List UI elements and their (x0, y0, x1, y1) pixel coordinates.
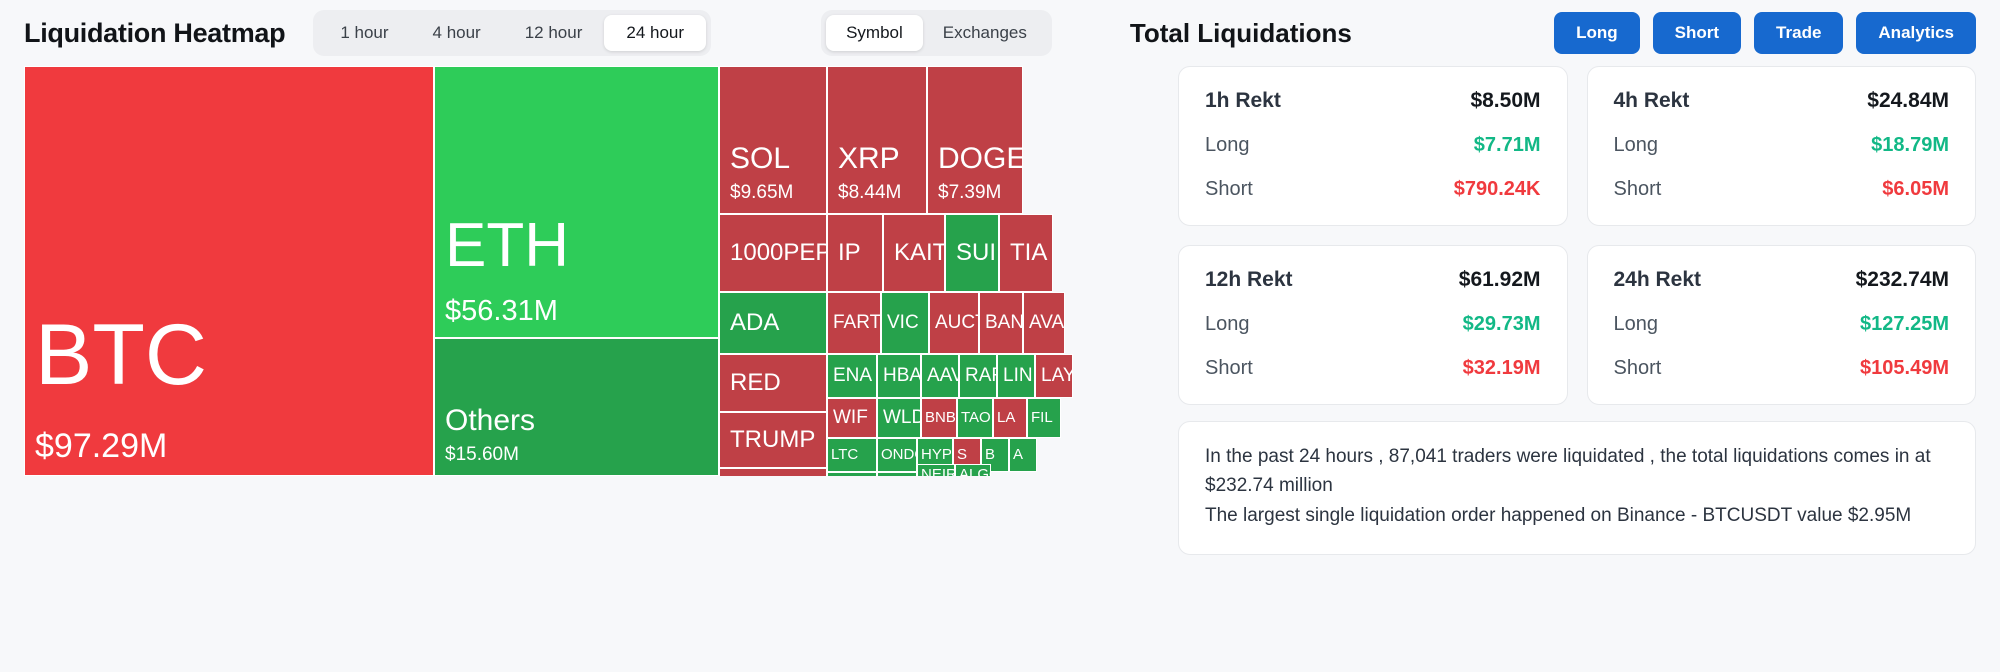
timeframe-segmented-control[interactable]: 1 hour4 hour12 hour24 hour (313, 10, 711, 56)
tile-symbol: Others (445, 405, 708, 437)
tile-symbol: KAITO (894, 240, 934, 265)
card-row: Long$29.73M (1205, 313, 1541, 336)
treemap-tile-banana[interactable]: BANANA (979, 292, 1023, 354)
treemap-tile-avax[interactable]: AVAX (1023, 292, 1065, 354)
treemap-tile-layer[interactable]: LAYER (1035, 354, 1073, 398)
treemap-tile-fartcoin[interactable]: FARTCOIN (827, 292, 881, 354)
action-btn-short[interactable]: Short (1653, 12, 1741, 54)
short-label: Short (1614, 357, 1662, 380)
tile-symbol: ALGO (959, 467, 987, 476)
tile-symbol: LA (997, 410, 1023, 426)
treemap-tile-doge[interactable]: DOGE$7.39M (927, 66, 1023, 214)
tile-symbol: XRP (838, 143, 916, 175)
main-content: BTC$97.29METH$56.31MOthers$15.60MSOL$9.6… (0, 66, 2000, 672)
short-value: $32.19M (1463, 357, 1541, 380)
card-row: Short$790.24K (1205, 178, 1541, 201)
long-label: Long (1205, 134, 1250, 157)
treemap-tile-aave[interactable]: AAVE (921, 354, 959, 398)
tile-symbol: RED (730, 370, 816, 395)
treemap-tile-auction[interactable]: AUCTION (929, 292, 979, 354)
card-row: Short$105.49M (1614, 357, 1950, 380)
summary-line-1: In the past 24 hours , 87,041 traders we… (1205, 442, 1949, 501)
treemap-tile-link[interactable]: LINK (997, 354, 1035, 398)
short-value: $6.05M (1882, 178, 1949, 201)
tile-symbol: HBAR (883, 366, 915, 386)
treemap-tile-fil[interactable]: FIL (1027, 398, 1061, 438)
tile-symbol: FIL (1031, 410, 1057, 426)
treemap-tile-sol[interactable]: SOL$9.65M (719, 66, 827, 214)
summary-line-2: The largest single liquidation order hap… (1205, 501, 1949, 530)
card-row: Long$7.71M (1205, 134, 1541, 157)
action-button-row: LongShortTradeAnalytics (1554, 12, 1976, 54)
treemap-tile-pnut[interactable]: PNUT (827, 472, 877, 476)
tile-symbol: AUCTION (935, 313, 973, 333)
liquidation-summary-panel: 1h Rekt$8.50MLong$7.71MShort$790.24K4h R… (1178, 66, 1976, 672)
grouping-segmented-control[interactable]: SymbolExchanges (821, 10, 1052, 56)
tile-symbol: BTC (35, 310, 423, 400)
page-title: Liquidation Heatmap (24, 18, 285, 49)
short-label: Short (1205, 357, 1253, 380)
tile-symbol: VIC (887, 313, 923, 333)
action-btn-trade[interactable]: Trade (1754, 12, 1843, 54)
tile-symbol: LAYER (1041, 366, 1067, 386)
period-label: 12h Rekt (1205, 268, 1293, 292)
tile-symbol: S (957, 447, 977, 463)
long-value: $18.79M (1871, 134, 1949, 157)
rekt-card-1h: 1h Rekt$8.50MLong$7.71MShort$790.24K (1178, 66, 1568, 226)
card-row: Long$18.79M (1614, 134, 1950, 157)
treemap-tile-neiro[interactable]: NEIRO (917, 464, 955, 476)
treemap-tile-others[interactable]: Others$15.60M (434, 338, 719, 476)
timeframe-btn-24-hour[interactable]: 24 hour (604, 15, 706, 51)
treemap-tile-wif[interactable]: WIF (827, 398, 877, 438)
treemap-tile-rare[interactable]: RARE (959, 354, 997, 398)
summary-card: In the past 24 hours , 87,041 traders we… (1178, 421, 1976, 555)
tile-symbol: ONDO (881, 447, 913, 463)
tile-value: $7.39M (938, 182, 1012, 205)
action-btn-analytics[interactable]: Analytics (1856, 12, 1976, 54)
period-value: $61.92M (1459, 268, 1541, 292)
tile-symbol: SUI (956, 240, 988, 265)
tile-symbol: RARE (965, 366, 991, 386)
treemap-tile-tia[interactable]: TIA (999, 214, 1053, 292)
treemap-tile-ip[interactable]: IP (827, 214, 883, 292)
card-row: Short$32.19M (1205, 357, 1541, 380)
rekt-card-24h: 24h Rekt$232.74MLong$127.25MShort$105.49… (1587, 245, 1977, 405)
short-value: $105.49M (1860, 357, 1949, 380)
tile-symbol: TIA (1010, 240, 1042, 265)
tile-symbol: AAVE (927, 366, 953, 386)
liquidation-treemap[interactable]: BTC$97.29METH$56.31MOthers$15.60MSOL$9.6… (24, 66, 1164, 476)
tile-value: $8.44M (838, 182, 916, 205)
tile-value: $15.60M (445, 444, 708, 467)
treemap-tile-1000pepe[interactable]: 1000PEPE (719, 214, 827, 292)
treemap-tile-algo[interactable]: ALGO (955, 464, 991, 476)
grouping-btn-symbol[interactable]: Symbol (826, 15, 923, 51)
treemap-tile-pepe[interactable]: PEPE (719, 468, 827, 476)
tile-symbol: ETH (445, 213, 708, 278)
tile-symbol: WLD (883, 408, 915, 428)
treemap-tile-bnb[interactable]: BNB (921, 398, 957, 438)
tile-symbol: LTC (831, 447, 873, 463)
tile-value: $9.65M (730, 182, 816, 205)
treemap-tile-ena[interactable]: ENA (827, 354, 877, 398)
tile-symbol: WIF (833, 408, 871, 428)
card-row: 1h Rekt$8.50M (1205, 89, 1541, 113)
rekt-card-12h: 12h Rekt$61.92MLong$29.73MShort$32.19M (1178, 245, 1568, 405)
total-liquidations-title: Total Liquidations (1130, 18, 1352, 49)
period-value: $8.50M (1470, 89, 1540, 113)
tile-symbol: TAO (961, 410, 989, 426)
period-label: 24h Rekt (1614, 268, 1702, 292)
tile-symbol: BANANA (985, 313, 1017, 333)
period-value: $24.84M (1867, 89, 1949, 113)
tile-value: $97.29M (35, 426, 423, 467)
short-value: $790.24K (1454, 178, 1541, 201)
tile-symbol: ADA (730, 310, 816, 335)
card-row: 24h Rekt$232.74M (1614, 268, 1950, 292)
card-row: Long$127.25M (1614, 313, 1950, 336)
timeframe-btn-1-hour[interactable]: 1 hour (318, 15, 410, 51)
treemap-tile-tao[interactable]: TAO (957, 398, 993, 438)
tile-symbol: BNB (925, 410, 953, 426)
long-label: Long (1614, 313, 1659, 336)
treemap-tile-vic[interactable]: VIC (881, 292, 929, 354)
treemap-tile-hbar[interactable]: HBAR (877, 354, 921, 398)
action-btn-long[interactable]: Long (1554, 12, 1640, 54)
card-row: 4h Rekt$24.84M (1614, 89, 1950, 113)
timeframe-btn-12-hour[interactable]: 12 hour (503, 15, 605, 51)
treemap-tile-ada[interactable]: ADA (719, 292, 827, 354)
long-label: Long (1614, 134, 1659, 157)
treemap-tile-ordi[interactable]: ORDI (877, 472, 917, 476)
top-toolbar: Liquidation Heatmap 1 hour4 hour12 hour2… (0, 0, 2000, 66)
treemap-tile-wld[interactable]: WLD (877, 398, 921, 438)
short-label: Short (1205, 178, 1253, 201)
tile-symbol: SOL (730, 143, 816, 175)
treemap-tile-sui[interactable]: SUI (945, 214, 999, 292)
long-value: $29.73M (1463, 313, 1541, 336)
treemap-tile-ltc[interactable]: LTC (827, 438, 877, 472)
tile-symbol: ENA (833, 366, 871, 386)
treemap-tile-a[interactable]: A (1009, 438, 1037, 472)
period-label: 1h Rekt (1205, 89, 1281, 113)
long-value: $127.25M (1860, 313, 1949, 336)
tile-symbol: 1000PEPE (730, 240, 816, 265)
tile-value: $56.31M (445, 294, 708, 329)
tile-symbol: FARTCOIN (833, 313, 875, 333)
treemap-tile-eth[interactable]: ETH$56.31M (434, 66, 719, 338)
tile-symbol: DOGE (938, 143, 1012, 175)
rekt-card-4h: 4h Rekt$24.84MLong$18.79MShort$6.05M (1587, 66, 1977, 226)
tile-symbol: TRUMP (730, 427, 816, 452)
tile-symbol: NEIRO (921, 467, 951, 476)
long-label: Long (1205, 313, 1250, 336)
period-label: 4h Rekt (1614, 89, 1690, 113)
tile-symbol: HYPE (921, 447, 949, 463)
period-value: $232.74M (1856, 268, 1949, 292)
treemap-tile-btc[interactable]: BTC$97.29M (24, 66, 434, 476)
card-row: Short$6.05M (1614, 178, 1950, 201)
tile-symbol: AVAX (1029, 313, 1059, 333)
treemap-tile-trump[interactable]: TRUMP (719, 412, 827, 468)
grouping-btn-exchanges[interactable]: Exchanges (923, 15, 1047, 51)
treemap-tile-la[interactable]: LA (993, 398, 1027, 438)
tile-symbol: B (985, 447, 1005, 463)
treemap-tile-red[interactable]: RED (719, 354, 827, 412)
short-label: Short (1614, 178, 1662, 201)
tile-symbol: A (1013, 447, 1033, 463)
rekt-card-grid: 1h Rekt$8.50MLong$7.71MShort$790.24K4h R… (1178, 66, 1976, 405)
card-row: 12h Rekt$61.92M (1205, 268, 1541, 292)
tile-symbol: LINK (1003, 366, 1029, 386)
treemap-tile-kaito[interactable]: KAITO (883, 214, 945, 292)
treemap-tile-ondo[interactable]: ONDO (877, 438, 917, 472)
long-value: $7.71M (1474, 134, 1541, 157)
tile-symbol: IP (838, 240, 872, 265)
treemap-tile-xrp[interactable]: XRP$8.44M (827, 66, 927, 214)
timeframe-btn-4-hour[interactable]: 4 hour (411, 15, 503, 51)
